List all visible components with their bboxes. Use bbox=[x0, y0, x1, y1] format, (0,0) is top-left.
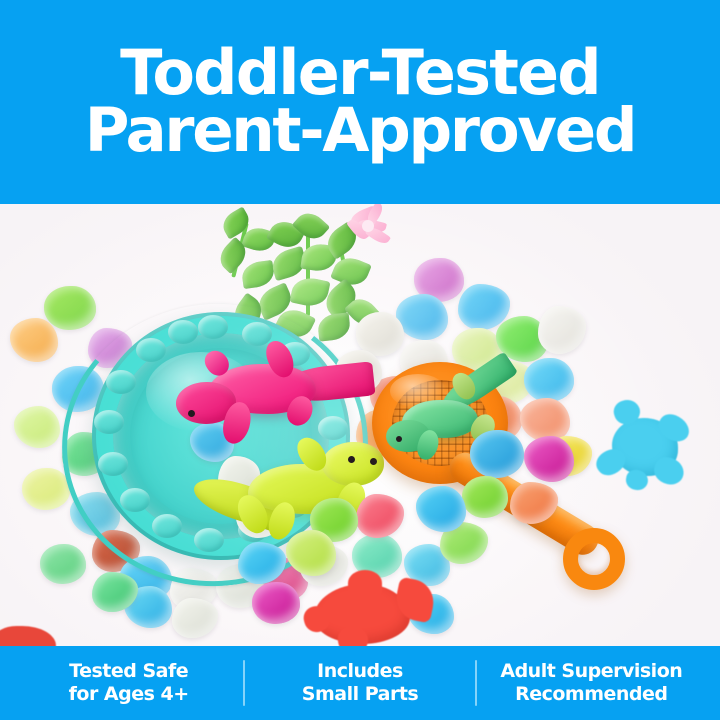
footer-cell-1-line-2: for Ages 4+ bbox=[14, 683, 243, 706]
gem-pebble bbox=[14, 406, 60, 448]
footer-divider bbox=[475, 660, 477, 706]
gem-pebble bbox=[252, 582, 300, 624]
plant-leaf bbox=[240, 260, 275, 289]
scoop-ring-handle bbox=[563, 528, 625, 590]
top-banner: Toddler-Tested Parent-Approved bbox=[0, 0, 720, 204]
gem-pebble bbox=[416, 486, 466, 532]
blue-sponge-turtle bbox=[596, 396, 708, 498]
footer-cell-2-line-2: Small Parts bbox=[245, 683, 474, 706]
fish-dorsal-fin bbox=[348, 570, 382, 596]
red-sponge-fish bbox=[300, 570, 440, 650]
axolotl-eye bbox=[370, 458, 377, 465]
plant-flower-center bbox=[362, 220, 374, 232]
bucket-rim-bump bbox=[94, 410, 124, 434]
footer-cell-tested-safe: Tested Safe for Ages 4+ bbox=[14, 660, 243, 706]
footer-cell-adult-supervision: Adult Supervision Recommended bbox=[477, 660, 706, 706]
gem-pebble bbox=[356, 494, 404, 538]
bucket-rim-bump bbox=[198, 315, 228, 339]
axolotl-eye bbox=[396, 436, 402, 442]
headline-line-2: Parent-Approved bbox=[85, 103, 635, 160]
gem-pebble bbox=[44, 286, 96, 330]
product-marketing-card: Toddler-Tested Parent-Approved Tested Sa… bbox=[0, 0, 720, 720]
footer-banner: Tested Safe for Ages 4+ Includes Small P… bbox=[0, 646, 720, 720]
gem-pebble bbox=[10, 318, 58, 362]
footer-cell-small-parts: Includes Small Parts bbox=[245, 660, 474, 706]
product-photo bbox=[0, 200, 720, 650]
plant-leaf bbox=[289, 275, 330, 310]
axolotl-eye bbox=[348, 456, 355, 463]
footer-cell-1-line-1: Tested Safe bbox=[14, 660, 243, 683]
gem-pebble bbox=[40, 544, 86, 584]
gem-pebble bbox=[470, 430, 524, 478]
bucket-rim-bump bbox=[152, 514, 182, 538]
gem-pebble bbox=[172, 598, 218, 638]
axolotl-eye bbox=[188, 410, 195, 417]
footer-cell-3-line-1: Adult Supervision bbox=[477, 660, 706, 683]
gem-pebble bbox=[538, 306, 586, 354]
plant-leaf bbox=[317, 312, 352, 341]
gem-pebble bbox=[462, 476, 508, 518]
gem-pebble bbox=[22, 468, 70, 510]
footer-cell-2-line-1: Includes bbox=[245, 660, 474, 683]
bucket-rim-bump bbox=[136, 338, 166, 362]
bucket-rim-bump bbox=[106, 370, 136, 394]
headline-line-1: Toddler-Tested bbox=[120, 44, 600, 102]
footer-cell-3-line-2: Recommended bbox=[477, 683, 706, 706]
bucket-rim-bump bbox=[120, 488, 150, 512]
bucket-rim-bump bbox=[98, 452, 128, 476]
